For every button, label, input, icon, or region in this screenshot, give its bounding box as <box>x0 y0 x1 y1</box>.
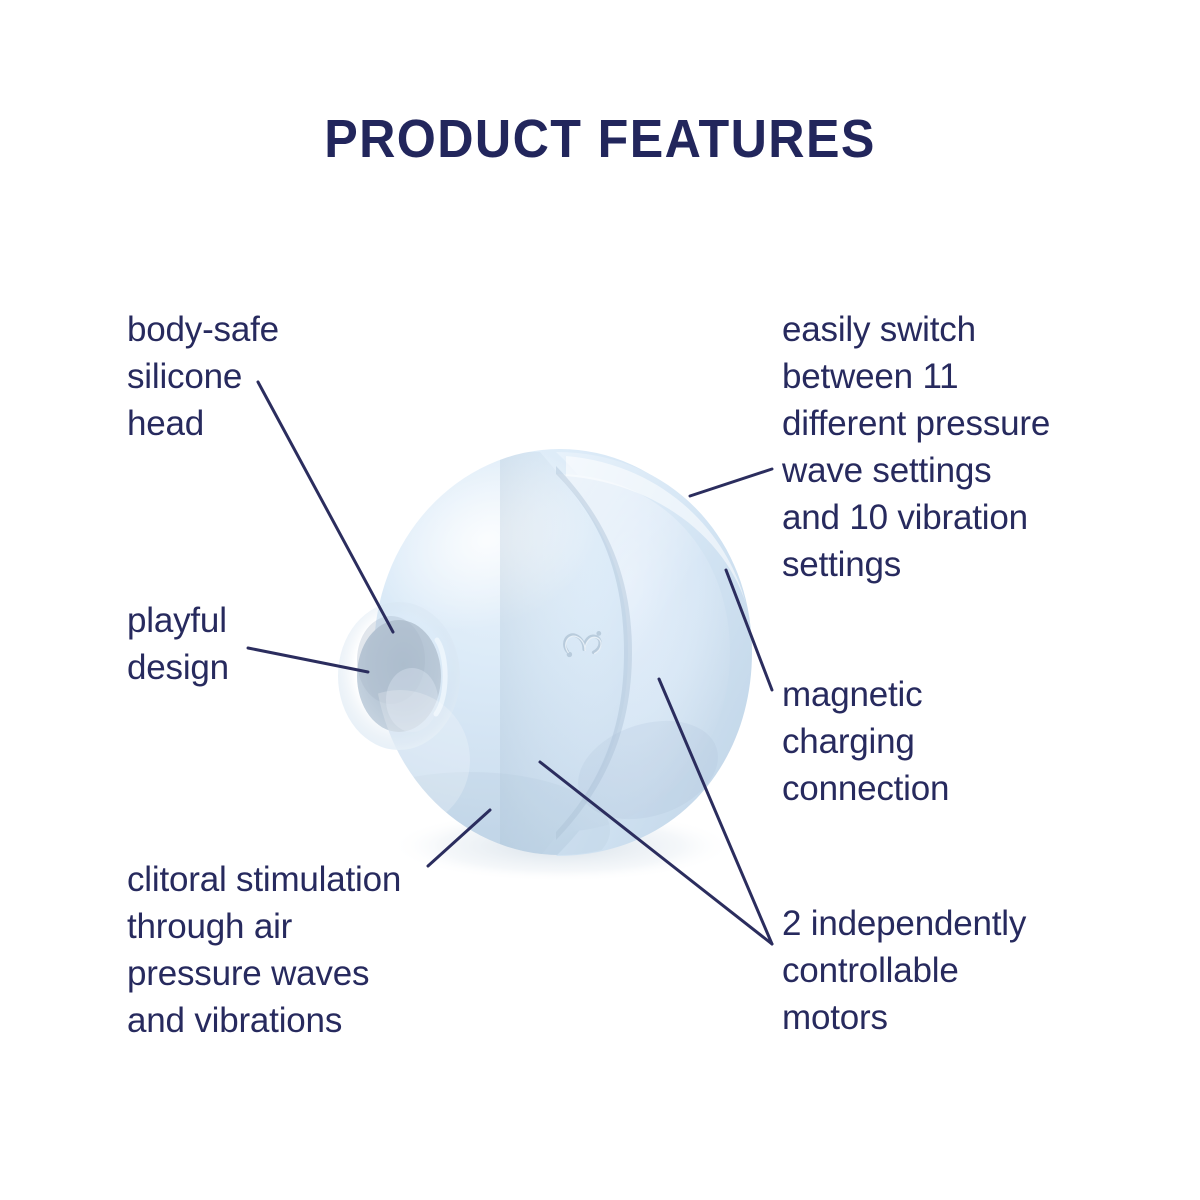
callout-label-playful-design: playful design <box>127 597 397 691</box>
callout-label-pressure-wave-settings: easily switch between 11 different press… <box>782 306 1102 588</box>
callout-label-independent-motors: 2 independently controllable motors <box>782 900 1102 1041</box>
callout-label-magnetic-charging: magnetic charging connection <box>782 671 1082 812</box>
callout-label-body-safe: body-safe silicone head <box>127 306 427 447</box>
product-features-infographic: PRODUCT FEATURES <box>0 0 1200 1200</box>
callout-label-clitoral-stimulation: clitoral stimulation through air pressur… <box>127 856 487 1044</box>
